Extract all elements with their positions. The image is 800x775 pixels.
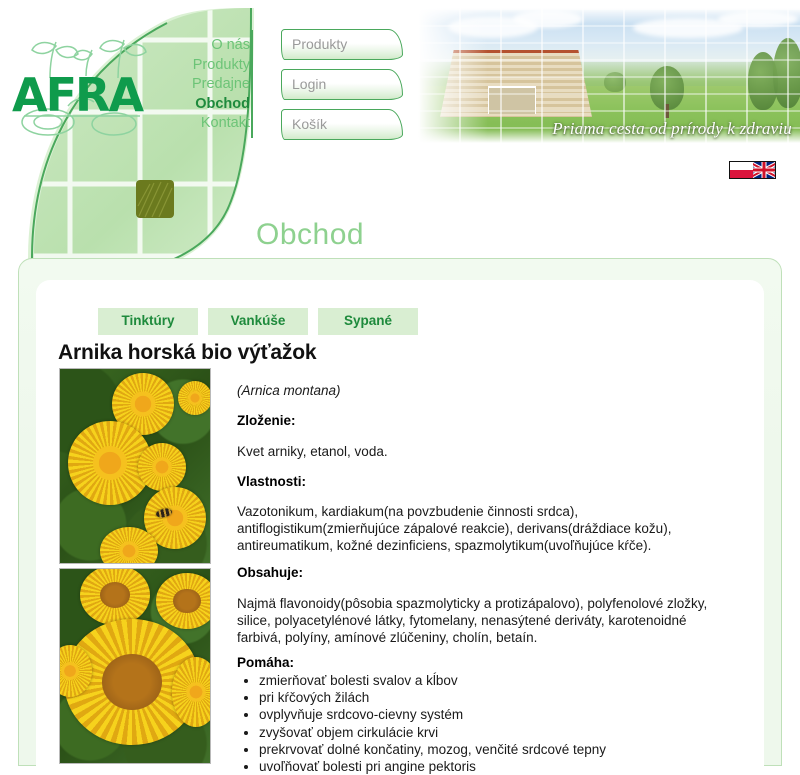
text-vlastnosti: Vazotonikum, kardiakum(na povzbudenie či… — [237, 503, 717, 554]
page-title: Obchod — [256, 218, 364, 252]
header-banner-photo: Priama cesta od prírody k zdraviu — [418, 8, 800, 143]
heading-obsahuje: Obsahuje: — [237, 564, 717, 581]
list-item: zmierňovať bolesti svalov a kĺbov — [259, 672, 739, 689]
tab-vankuse[interactable]: Vankúše — [208, 308, 308, 335]
product-image-2 — [59, 568, 211, 764]
nav-item-o-nas[interactable]: O nás — [168, 36, 250, 56]
benefits-list: zmierňovať bolesti svalov a kĺbov pri kŕ… — [237, 672, 739, 775]
product-latin-name: (Arnica montana) — [237, 382, 717, 399]
uk-cross-red — [753, 169, 776, 172]
nav-item-obchod[interactable]: Obchod — [168, 95, 250, 115]
list-item: ovplyvňuje srdcovo-cievny systém — [259, 706, 739, 723]
nav-item-kontakt[interactable]: Kontakt — [168, 114, 250, 134]
site-tagline: Priama cesta od prírody k zdraviu — [552, 119, 792, 139]
product-title: Arnika horská bio výťažok — [58, 341, 316, 365]
language-switcher[interactable] — [729, 161, 776, 179]
nav-item-produkty[interactable]: Produkty — [168, 56, 250, 76]
leaf-button-produkty[interactable]: Produkty — [281, 29, 403, 60]
site-header: Priama cesta od prírody k zdraviu — [0, 0, 800, 150]
flag-poland-red-band — [730, 170, 753, 178]
list-item: pri kŕčových žilách — [259, 689, 739, 706]
tab-tinktury[interactable]: Tinktúry — [98, 308, 198, 335]
nav-divider — [251, 30, 253, 138]
tab-sypane[interactable]: Sypané — [318, 308, 418, 335]
main-navigation[interactable]: O nás Produkty Predajne Obchod Kontakt — [168, 36, 250, 134]
nav-item-predajne[interactable]: Predajne — [168, 75, 250, 95]
list-item: prekrvovať dolné končatiny, mozog, venči… — [259, 741, 739, 758]
leaf-button-login[interactable]: Login — [281, 69, 403, 100]
text-zlozenie: Kvet arniky, etanol, voda. — [237, 443, 717, 460]
flag-uk-icon[interactable] — [753, 162, 776, 178]
banner-fade-left — [418, 8, 488, 143]
flower-shape — [138, 443, 186, 491]
leaf-button-label: Login — [292, 76, 326, 92]
flower-shape — [156, 573, 211, 629]
heading-vlastnosti: Vlastnosti: — [237, 473, 717, 490]
flag-poland-white-band — [730, 162, 753, 170]
leaf-button-label: Produkty — [292, 36, 347, 52]
text-obsahuje: Najmä flavonoidy(pôsobia spazmolyticky a… — [237, 595, 717, 646]
afra-logo[interactable]: AFRA — [8, 20, 158, 140]
logo-wordmark: AFRA — [12, 68, 142, 122]
product-image-1 — [59, 368, 211, 564]
leaf-button-kosik[interactable]: Košík — [281, 109, 403, 140]
category-tabs[interactable]: Tinktúry Vankúše Sypané — [98, 308, 418, 335]
leaf-button-label: Košík — [292, 116, 327, 132]
banner-fade-top — [418, 8, 800, 24]
flower-shape — [178, 381, 211, 415]
heading-pomaha: Pomáha: — [237, 654, 717, 671]
heading-zlozenie: Zloženie: — [237, 412, 717, 429]
list-item: zvyšovať objem cirkulácie krvi — [259, 724, 739, 741]
flag-poland-icon[interactable] — [730, 162, 753, 178]
list-item: uvoľňovať bolesti pri angine pektoris — [259, 758, 739, 775]
